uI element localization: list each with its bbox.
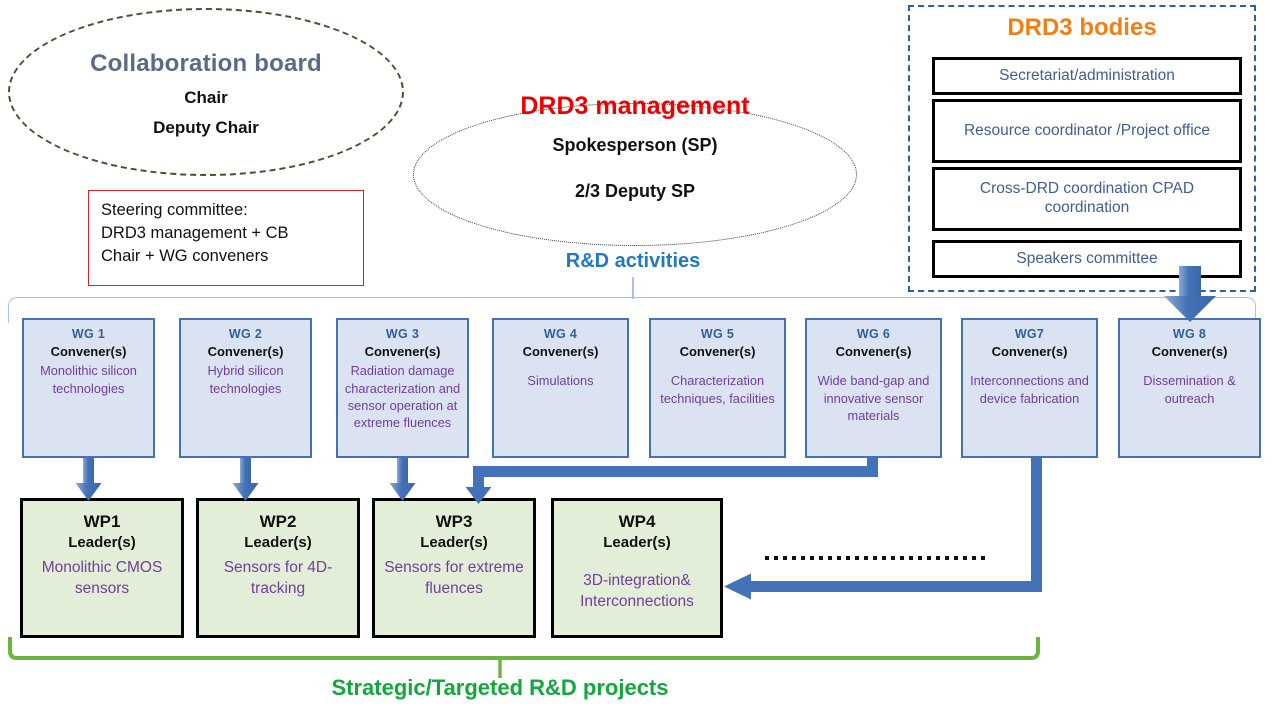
drd3-management-title: DRD3 management (413, 92, 857, 121)
working-group-description: Simulations (524, 372, 596, 389)
work-package-box-3[interactable]: WP3Leader(s)Sensors for extreme fluences (372, 498, 536, 638)
collaboration-board-chair: Chair (8, 88, 404, 108)
working-group-description: Dissemination & outreach (1120, 372, 1259, 406)
working-group-description: Monolithic silicon technologies (24, 362, 153, 396)
work-package-leader-label: Leader(s) (420, 533, 488, 553)
arrow-wg3-to-wp3 (390, 458, 416, 501)
steering-committee-line-2: DRD3 management + CB (101, 222, 351, 245)
working-group-box-3[interactable]: WG 3Convener(s)Radiation damage characte… (336, 318, 469, 458)
arrow-wg7-to-wp4-elbow (724, 458, 1042, 600)
work-package-number: WP4 (619, 510, 656, 533)
working-group-convener-label: Convener(s) (836, 343, 912, 361)
strategic-projects-label: Strategic/Targeted R&D projects (240, 675, 760, 701)
arrow-wg2-to-wp2 (233, 458, 259, 501)
drd3-management-ellipse (413, 103, 857, 246)
working-group-number: WG 8 (1173, 326, 1206, 343)
working-group-number: WG7 (1015, 326, 1044, 343)
working-group-box-8[interactable]: WG 8Convener(s)Dissemination & outreach (1118, 318, 1261, 458)
drd3-bodies-title: DRD3 bodies (908, 14, 1256, 42)
deputy-spokesperson-label: 2/3 Deputy SP (413, 181, 857, 202)
working-group-box-6[interactable]: WG 6Convener(s)Wide band-gap and innovat… (805, 318, 942, 458)
steering-committee-line-3: Chair + WG conveners (101, 245, 351, 268)
working-group-convener-label: Convener(s) (1152, 343, 1228, 361)
spokesperson-label: Spokesperson (SP) (413, 135, 857, 156)
body-item-secretariat[interactable]: Secretariat/administration (932, 57, 1242, 95)
working-group-number: WG 1 (72, 326, 105, 343)
working-group-box-4[interactable]: WG 4Convener(s)Simulations (492, 318, 629, 458)
working-group-description: Characterization techniques, facilities (651, 372, 784, 406)
working-group-description: Radiation damage characterization and se… (338, 362, 467, 431)
steering-committee-box: Steering committee: DRD3 management + CB… (88, 190, 364, 286)
working-group-number: WG 3 (386, 326, 419, 343)
work-package-box-1[interactable]: WP1Leader(s)Monolithic CMOS sensors (20, 498, 184, 638)
work-package-description: 3D-integration& Interconnections (554, 570, 720, 612)
work-package-description: Sensors for extreme fluences (375, 557, 533, 599)
work-package-description: Monolithic CMOS sensors (23, 557, 181, 599)
work-package-number: WP2 (260, 510, 297, 533)
strategic-bracket (10, 637, 1038, 678)
steering-committee-line-1: Steering committee: (101, 199, 351, 222)
work-package-box-2[interactable]: WP2Leader(s)Sensors for 4D-tracking (196, 498, 360, 638)
body-item-cross-drd-coordination[interactable]: Cross-DRD coordination CPAD coordination (932, 167, 1242, 231)
working-group-number: WG 6 (857, 326, 890, 343)
working-group-box-5[interactable]: WG 5Convener(s)Characterization techniqu… (649, 318, 786, 458)
working-group-box-1[interactable]: WG 1Convener(s)Monolithic silicon techno… (22, 318, 155, 458)
collaboration-board-deputy-chair: Deputy Chair (8, 118, 404, 138)
working-group-convener-label: Convener(s) (51, 343, 127, 361)
body-item-resource-coordinator[interactable]: Resource coordinator /Project office (932, 99, 1242, 163)
work-package-description: Sensors for 4D-tracking (199, 557, 357, 599)
working-group-number: WG 5 (701, 326, 734, 343)
work-package-leader-label: Leader(s) (603, 533, 671, 553)
rnd-activities-label: R&D activities (473, 250, 793, 273)
collaboration-board-title: Collaboration board (8, 50, 404, 78)
working-group-box-7[interactable]: WG7Convener(s)Interconnections and devic… (961, 318, 1098, 458)
working-group-description: Wide band-gap and innovative sensor mate… (807, 372, 940, 423)
working-group-description: Hybrid silicon technologies (181, 362, 310, 396)
working-group-number: WG 4 (544, 326, 577, 343)
working-group-box-2[interactable]: WG 2Convener(s)Hybrid silicon technologi… (179, 318, 312, 458)
working-group-description: Interconnections and device fabrication (963, 372, 1096, 406)
arrow-wg1-to-wp1 (76, 458, 102, 501)
rnd-bracket-stem (632, 277, 634, 299)
working-group-convener-label: Convener(s) (523, 343, 599, 361)
work-package-leader-label: Leader(s) (68, 533, 136, 553)
work-package-number: WP3 (436, 510, 473, 533)
work-package-leader-label: Leader(s) (244, 533, 312, 553)
working-group-convener-label: Convener(s) (208, 343, 284, 361)
working-group-convener-label: Convener(s) (680, 343, 756, 361)
working-group-convener-label: Convener(s) (992, 343, 1068, 361)
working-group-number: WG 2 (229, 326, 262, 343)
working-group-convener-label: Convener(s) (365, 343, 441, 361)
work-package-number: WP1 (84, 510, 121, 533)
body-item-speakers-committee[interactable]: Speakers committee (932, 240, 1242, 278)
work-package-box-4[interactable]: WP4Leader(s)3D-integration& Interconnect… (551, 498, 723, 638)
